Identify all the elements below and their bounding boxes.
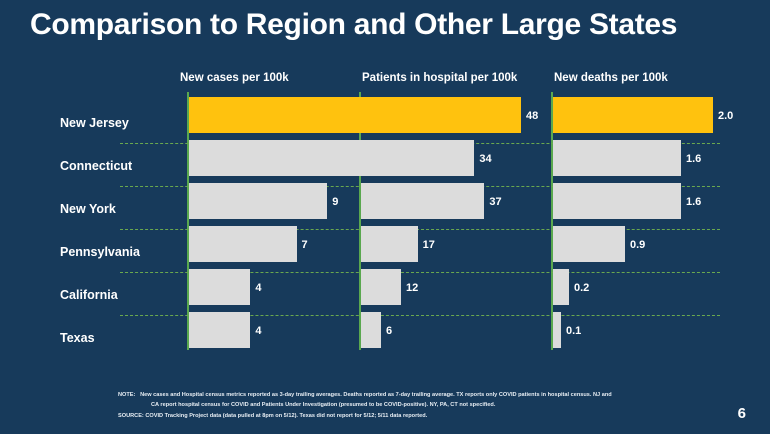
bar-new-deaths-per-100k-texas [553,312,561,348]
page-number: 6 [738,405,746,422]
bar-value-new-deaths-per-100k-pennsylvania: 0.9 [630,239,645,251]
bar-value-new-deaths-per-100k-california: 0.2 [574,282,589,294]
bar-chart-panel-group: New cases per 100k Patients in hospital … [0,72,770,362]
footnote-note-line-2: CA report hospital census for COVID and … [118,400,718,410]
bar-new-cases-per-100k-texas [189,312,250,348]
bar-value-new-deaths-per-100k-connecticut: 1.6 [686,153,701,165]
bar-patients-in-hospital-per-100k-texas [361,312,381,348]
row-label-california: California [60,288,118,302]
footnote-note-label: NOTE: [118,390,135,400]
bar-value-new-cases-per-100k-new-york: 9 [332,196,338,208]
row-label-new-york: New York [60,202,116,216]
column-header-new-deaths: New deaths per 100k [554,72,668,84]
column-header-new-cases: New cases per 100k [180,72,289,84]
bar-new-deaths-per-100k-connecticut [553,140,681,176]
row-label-connecticut: Connecticut [60,159,132,173]
bar-value-patients-in-hospital-per-100k-new-york: 37 [489,196,501,208]
bar-new-cases-per-100k-new-york [189,183,327,219]
bar-value-patients-in-hospital-per-100k-pennsylvania: 17 [423,239,435,251]
bar-value-patients-in-hospital-per-100k-new-jersey: 48 [526,110,538,122]
bar-patients-in-hospital-per-100k-new-york [361,183,484,219]
page-title: Comparison to Region and Other Large Sta… [30,8,677,42]
bar-value-new-cases-per-100k-pennsylvania: 7 [302,239,308,251]
bar-value-patients-in-hospital-per-100k-connecticut: 34 [479,153,491,165]
bar-value-new-deaths-per-100k-new-jersey: 2.0 [718,110,733,122]
row-label-texas: Texas [60,331,95,345]
footnote-source-label: SOURCE: [118,411,144,421]
bar-new-deaths-per-100k-california [553,269,569,305]
bar-new-cases-per-100k-connecticut [189,140,389,176]
bar-new-cases-per-100k-california [189,269,250,305]
bar-patients-in-hospital-per-100k-new-jersey [361,97,521,133]
row-label-pennsylvania: Pennsylvania [60,245,140,259]
bar-patients-in-hospital-per-100k-connecticut [361,140,474,176]
slide-root: Comparison to Region and Other Large Sta… [0,0,770,434]
bar-value-patients-in-hospital-per-100k-california: 12 [406,282,418,294]
bar-patients-in-hospital-per-100k-pennsylvania [361,226,418,262]
bar-new-deaths-per-100k-new-jersey [553,97,713,133]
footnote-source-line: COVID Tracking Project data (data pulled… [145,413,427,419]
bar-value-new-deaths-per-100k-texas: 0.1 [566,325,581,337]
bar-new-deaths-per-100k-new-york [553,183,681,219]
column-header-patients-in-hospital: Patients in hospital per 100k [362,72,517,84]
bar-value-patients-in-hospital-per-100k-texas: 6 [386,325,392,337]
row-label-new-jersey: New Jersey [60,116,129,130]
bar-value-new-deaths-per-100k-new-york: 1.6 [686,196,701,208]
bar-new-deaths-per-100k-pennsylvania [553,226,625,262]
bar-patients-in-hospital-per-100k-california [361,269,401,305]
footnote: NOTE: New cases and Hospital census metr… [118,390,718,421]
bar-new-cases-per-100k-pennsylvania [189,226,297,262]
footnote-note-line-1: New cases and Hospital census metrics re… [140,392,612,398]
bar-value-new-cases-per-100k-california: 4 [255,282,261,294]
bar-value-new-cases-per-100k-texas: 4 [255,325,261,337]
